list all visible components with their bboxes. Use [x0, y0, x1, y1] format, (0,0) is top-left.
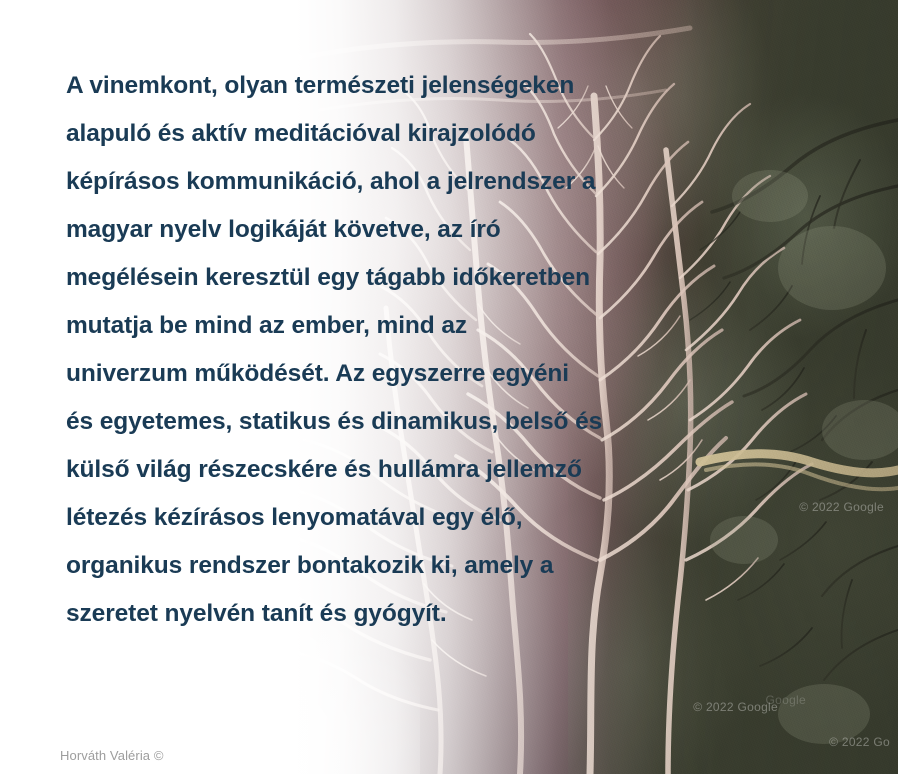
- slide-body-text: A vinemkont, olyan természeti jelenségek…: [66, 62, 606, 638]
- author-credit: Horváth Valéria ©: [60, 748, 164, 763]
- slide-canvas: © 2022 Google © 2022 Google Google © 202…: [0, 0, 898, 774]
